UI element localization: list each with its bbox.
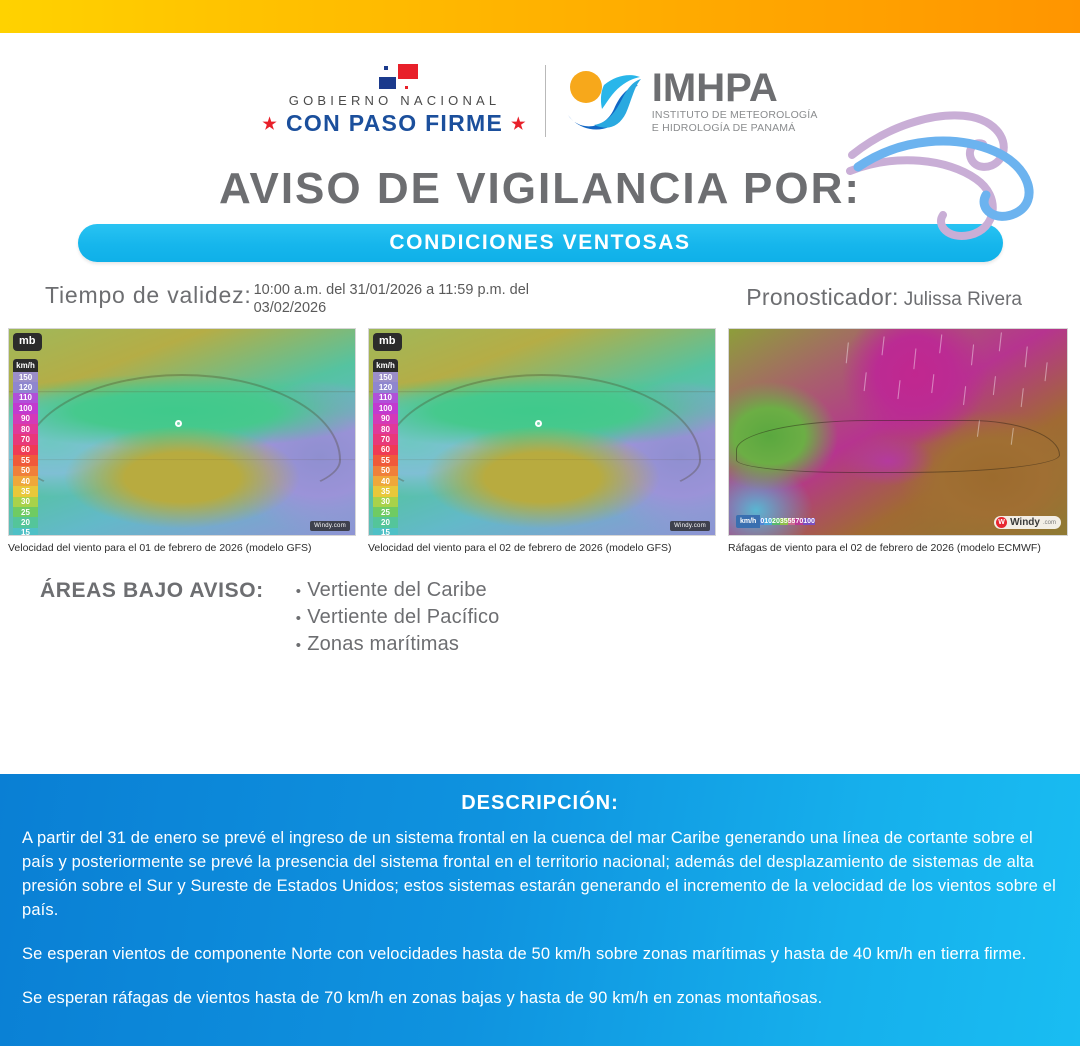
windy-tld: .com [1043,520,1056,526]
wind-speed-legend-2: km/h 15012011010090807060555040353025201… [373,359,398,536]
imhpa-logo: IMHPA INSTITUTO DE METEOROLOGÍA E HIDROL… [564,65,818,137]
area-list-item: Vertiente del Pacífico [296,604,500,631]
legend-scale-1: 150120110100908070605550403530252015105 [13,372,38,536]
legend-tick: 70 [373,434,398,444]
header: GOBIERNO NACIONAL ★ CON PASO FIRME ★ IMH… [0,33,1080,168]
legend-tick: 20 [373,517,398,527]
pressure-unit-chip-1: mb [13,333,42,351]
gust-legend-tick: 10 [764,518,772,525]
wind-speed-legend-1: km/h 15012011010090807060555040353025201… [13,359,38,536]
map-location-marker-icon [175,420,182,427]
map-panel-ecmwf-gusts: km/h 01020355570100 W Windy .com Ráfagas… [728,328,1068,555]
legend-tick: 110 [373,393,398,403]
legend-tick: 40 [373,476,398,486]
gobierno-nacional-logo: GOBIERNO NACIONAL ★ CON PASO FIRME ★ [262,64,526,137]
windy-attribution-logo: W Windy .com [994,516,1061,529]
gust-speed-legend: km/h 01020355570100 [736,515,815,528]
gust-legend-tick: 100 [803,518,815,525]
star-icon-right: ★ [511,114,527,134]
legend-tick: 150 [13,372,38,382]
description-body: A partir del 31 de enero se prevé el ing… [22,827,1058,1011]
legend-tick: 55 [373,455,398,465]
wind-swirl-decoration-icon [844,67,1074,252]
gov-logo-line2: ★ CON PASO FIRME ★ [262,110,526,137]
imhpa-subtitle-line2: E HIDROLOGÍA DE PANAMÁ [652,123,818,134]
legend-tick: 55 [13,455,38,465]
forecast-maps-row: mb km/h 15012011010090807060555040353025… [0,328,1080,555]
map-caption-1: Velocidad del viento para el 01 de febre… [8,542,356,555]
description-paragraph: A partir del 31 de enero se prevé el ing… [22,827,1058,923]
logo-divider [545,65,546,137]
map-image-gfs-feb01[interactable]: mb km/h 15012011010090807060555040353025… [8,328,356,536]
legend-tick: 30 [13,497,38,507]
legend-tick: 90 [13,414,38,424]
windy-name: Windy [1010,517,1040,528]
imhpa-text-block: IMHPA INSTITUTO DE METEOROLOGÍA E HIDROL… [652,68,818,133]
legend-tick: 150 [373,372,398,382]
areas-label: ÁREAS BAJO AVISO: [40,577,264,603]
validity-block: Tiempo de validez: 10:00 a.m. del 31/01/… [45,282,604,326]
map-panel-gfs-feb02: mb km/h 15012011010090807060555040353025… [368,328,716,555]
forecaster-block: Pronosticador: Julissa Rivera [746,284,1022,311]
areas-under-advisory-section: ÁREAS BAJO AVISO: Vertiente del CaribeVe… [0,555,1080,658]
legend-tick: 40 [13,476,38,486]
legend-tick: 70 [13,434,38,444]
gust-legend-tick: 35 [780,518,788,525]
imhpa-subtitle-line1: INSTITUTO DE METEOROLOGÍA [652,110,818,121]
legend-tick: 90 [373,414,398,424]
gust-legend-scale: 01020355570100 [760,515,815,528]
legend-tick: 50 [13,466,38,476]
description-title: DESCRIPCIÓN: [22,792,1058,815]
legend-tick: 110 [13,393,38,403]
map-attribution-2: Windy.com [670,521,710,531]
legend-tick: 60 [13,445,38,455]
legend-tick: 80 [373,424,398,434]
description-paragraph: Se esperan vientos de componente Norte c… [22,943,1058,967]
imhpa-name: IMHPA [652,68,818,108]
map-location-marker-icon [535,420,542,427]
area-list-item: Vertiente del Caribe [296,577,500,604]
legend-tick: 20 [13,517,38,527]
legend-tick: 60 [373,445,398,455]
map-caption-3: Ráfagas de viento para el 02 de febrero … [728,542,1068,555]
legend-unit-1: km/h [13,359,38,372]
legend-tick: 120 [373,382,398,392]
legend-tick: 35 [373,486,398,496]
gust-legend-tick: 20 [772,518,780,525]
legend-tick: 120 [13,382,38,392]
legend-tick: 35 [13,486,38,496]
map-image-gfs-feb02[interactable]: mb km/h 15012011010090807060555040353025… [368,328,716,536]
legend-tick: 100 [13,403,38,413]
description-paragraph: Se esperan ráfagas de vientos hasta de 7… [22,987,1058,1011]
map-caption-2: Velocidad del viento para el 02 de febre… [368,542,716,555]
validity-value: 10:00 a.m. del 31/01/2026 a 11:59 p.m. d… [254,281,604,317]
legend-tick: 100 [373,403,398,413]
legend-unit-2: km/h [373,359,398,372]
legend-tick: 50 [373,466,398,476]
description-section: DESCRIPCIÓN: A partir del 31 de enero se… [0,774,1080,1046]
map-image-ecmwf-gusts[interactable]: km/h 01020355570100 W Windy .com [728,328,1068,536]
legend-scale-2: 150120110100908070605550403530252015105 [373,372,398,536]
gust-legend-unit: km/h [736,515,760,528]
validity-label: Tiempo de validez: [45,282,252,309]
legend-tick: 80 [13,424,38,434]
areas-list: Vertiente del CaribeVertiente del Pacífi… [296,577,500,658]
advisory-meta-row: Tiempo de validez: 10:00 a.m. del 31/01/… [0,270,1080,322]
map-attribution-1: Windy.com [310,521,350,531]
area-list-item: Zonas marítimas [296,631,500,658]
legend-tick: 25 [13,507,38,517]
legend-tick: 15 [13,528,38,536]
top-accent-bar [0,0,1080,33]
advisory-type-label: CONDICIONES VENTOSAS [389,231,690,255]
forecaster-label: Pronosticador: [746,284,899,311]
logo-row: GOBIERNO NACIONAL ★ CON PASO FIRME ★ IMH… [262,64,817,137]
gov-logo-line1: GOBIERNO NACIONAL [289,93,501,108]
imhpa-wave-sun-icon [564,65,642,137]
pressure-unit-chip-2: mb [373,333,402,351]
gov-logo-slogan: CON PASO FIRME [286,110,503,137]
legend-tick: 30 [373,497,398,507]
map-panel-gfs-feb01: mb km/h 15012011010090807060555040353025… [8,328,356,555]
legend-tick: 15 [373,528,398,536]
panama-flag-icon [372,64,418,90]
forecaster-value: Julissa Rivera [904,289,1022,311]
windy-mark-icon: W [996,517,1007,528]
legend-tick: 25 [373,507,398,517]
star-icon-left: ★ [262,114,278,134]
